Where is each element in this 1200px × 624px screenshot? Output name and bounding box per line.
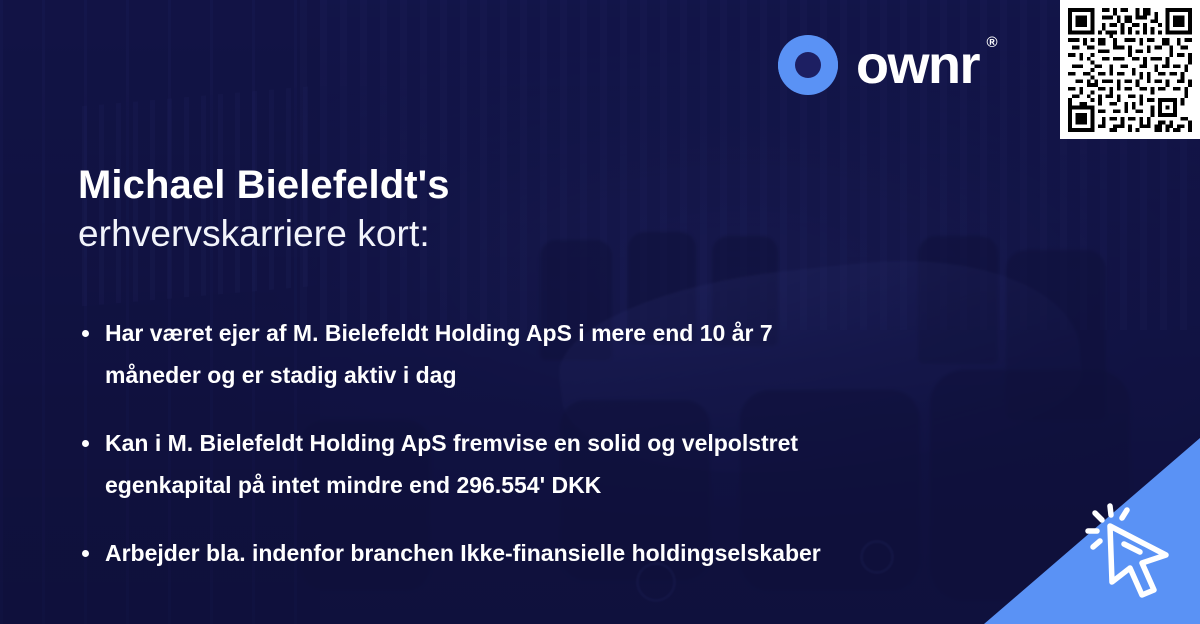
list-item: Har været ejer af M. Bielefeldt Holding … [82, 312, 862, 396]
list-item-text: Arbejder bla. indenfor branchen Ikke-fin… [105, 540, 821, 566]
page-title: Michael Bielefeldt's erhvervskarriere ko… [78, 160, 838, 258]
brand-logo[interactable]: ownr ® [776, 33, 979, 97]
list-item: Kan i M. Bielefeldt Holding ApS fremvise… [82, 422, 862, 506]
highlights-list: Har været ejer af M. Bielefeldt Holding … [82, 312, 1082, 574]
registered-trademark-symbol: ® [986, 35, 996, 50]
qr-code-icon [1068, 8, 1192, 132]
qr-code[interactable] [1060, 0, 1200, 139]
click-cursor-icon [1080, 498, 1192, 610]
bullet-dot-icon [82, 440, 89, 447]
brand-name-text: ownr [856, 35, 979, 95]
bullet-dot-icon [82, 550, 89, 557]
list-item: Arbejder bla. indenfor branchen Ikke-fin… [82, 532, 982, 574]
bullet-dot-icon [82, 330, 89, 337]
list-item-text: Har været ejer af M. Bielefeldt Holding … [105, 320, 773, 388]
title-line-1: Michael Bielefeldt's [78, 160, 838, 210]
brand-wordmark: ownr ® [856, 33, 979, 97]
list-item-text: Kan i M. Bielefeldt Holding ApS fremvise… [105, 430, 798, 498]
business-card-banner: ownr ® [0, 0, 1200, 624]
ownr-circle-slash-logo-icon [776, 33, 840, 97]
title-line-2: erhvervskarriere kort: [78, 210, 838, 258]
